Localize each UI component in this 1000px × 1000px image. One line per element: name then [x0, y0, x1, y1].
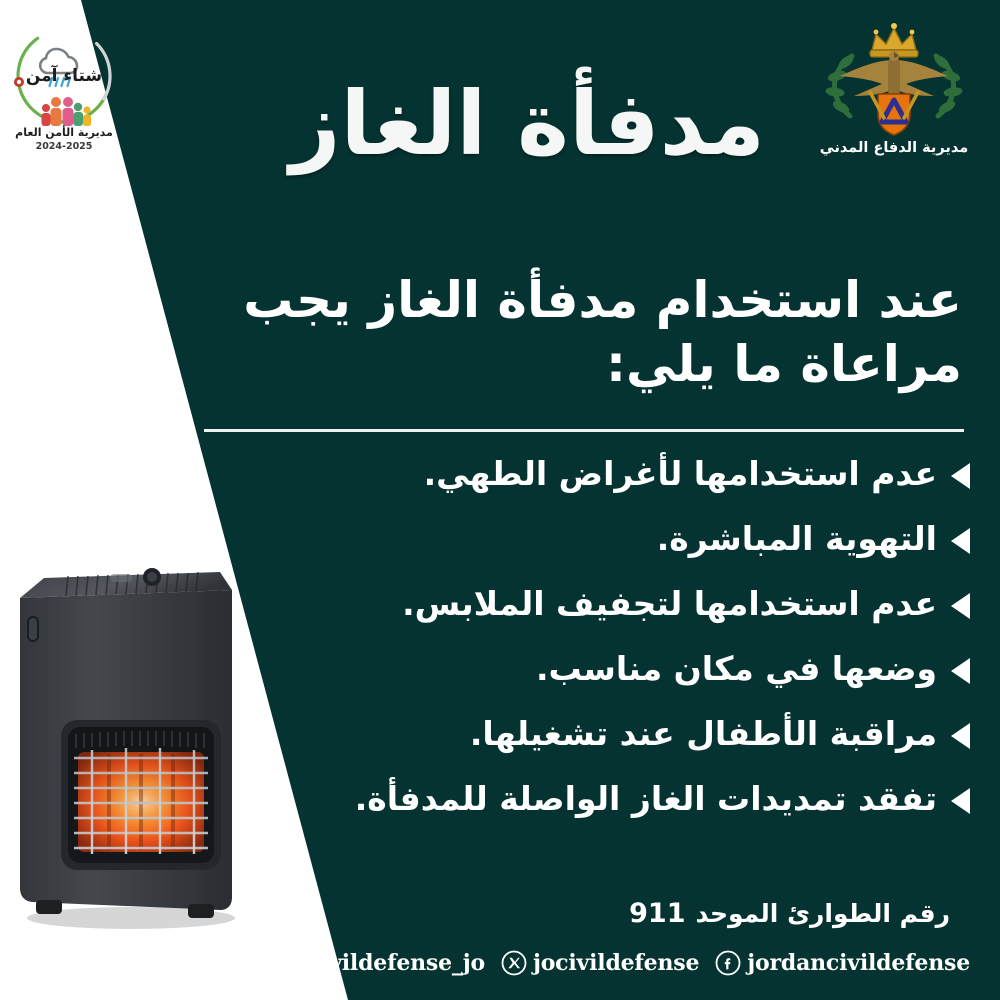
emblem-caption: مديرية الدفاع المدني: [806, 140, 982, 156]
cloud-icon: [40, 49, 77, 73]
social-links: jordancivildefense jocivildefense civild…: [276, 950, 970, 976]
list-item-label: عدم استخدامها لأغراض الطهي.: [424, 456, 937, 492]
list-item: عدم استخدامها لأغراض الطهي.: [30, 442, 970, 507]
facebook-icon: [715, 950, 741, 976]
social-handle-x: jocivildefense: [533, 950, 699, 976]
social-link-facebook[interactable]: jordancivildefense: [715, 950, 970, 976]
list-item-label: عدم استخدامها لتجفيف الملابس.: [402, 586, 937, 622]
divider-rule: [204, 429, 964, 432]
social-handle-instagram: civildefense_jo: [308, 950, 485, 976]
social-link-instagram[interactable]: civildefense_jo: [276, 950, 485, 976]
list-item: تفقد تمديدات الغاز الواصلة للمدفأة.: [30, 767, 970, 832]
intro-line-2: مراعاة ما يلي:: [202, 332, 962, 396]
list-item: وضعها في مكان مناسب.: [30, 637, 970, 702]
page-title: مدفأة الغاز: [290, 78, 765, 170]
x-icon: [501, 950, 527, 976]
list-item-label: وضعها في مكان مناسب.: [536, 651, 937, 687]
emergency-label: رقم الطوارئ الموحد: [696, 899, 950, 928]
intro-text: عند استخدام مدفأة الغاز يجب مراعاة ما يل…: [202, 268, 962, 396]
list-item-label: التهوية المباشرة.: [657, 521, 937, 557]
list-item: مراقبة الأطفال عند تشغيلها.: [30, 702, 970, 767]
intro-line-1: عند استخدام مدفأة الغاز يجب: [202, 268, 962, 332]
triangle-bullet-icon: [951, 528, 970, 554]
family-icon: [42, 97, 92, 126]
triangle-bullet-icon: [951, 463, 970, 489]
emergency-number-line: رقم الطوارئ الموحد911: [629, 898, 950, 929]
logo-organization: مديرية الأمن العام: [8, 126, 120, 139]
triangle-bullet-icon: [951, 593, 970, 619]
winter-safe-logo: شتاء آمن مديرية الأمن العام 2024-2025: [8, 22, 120, 162]
social-handle-facebook: jordancivildefense: [747, 950, 970, 976]
civil-defense-emblem: مديرية الدفاع المدني: [806, 22, 982, 172]
list-item-label: مراقبة الأطفال عند تشغيلها.: [470, 716, 937, 752]
triangle-bullet-icon: [951, 788, 970, 814]
rain-icon: [50, 78, 71, 86]
list-item: عدم استخدامها لتجفيف الملابس.: [30, 572, 970, 637]
social-link-x[interactable]: jocivildefense: [501, 950, 699, 976]
safety-tips-list: عدم استخدامها لأغراض الطهي. التهوية المب…: [30, 442, 970, 832]
infographic-poster: شتاء آمن مديرية الأمن العام 2024-2025: [0, 0, 1000, 1000]
instagram-icon: [276, 950, 302, 976]
triangle-bullet-icon: [951, 723, 970, 749]
logo-season: 2024-2025: [8, 141, 120, 152]
list-item-label: تفقد تمديدات الغاز الواصلة للمدفأة.: [355, 781, 937, 817]
list-item: التهوية المباشرة.: [30, 507, 970, 572]
triangle-bullet-icon: [951, 658, 970, 684]
emergency-number: 911: [629, 898, 685, 929]
civil-defense-emblem-graphic: [806, 22, 982, 142]
